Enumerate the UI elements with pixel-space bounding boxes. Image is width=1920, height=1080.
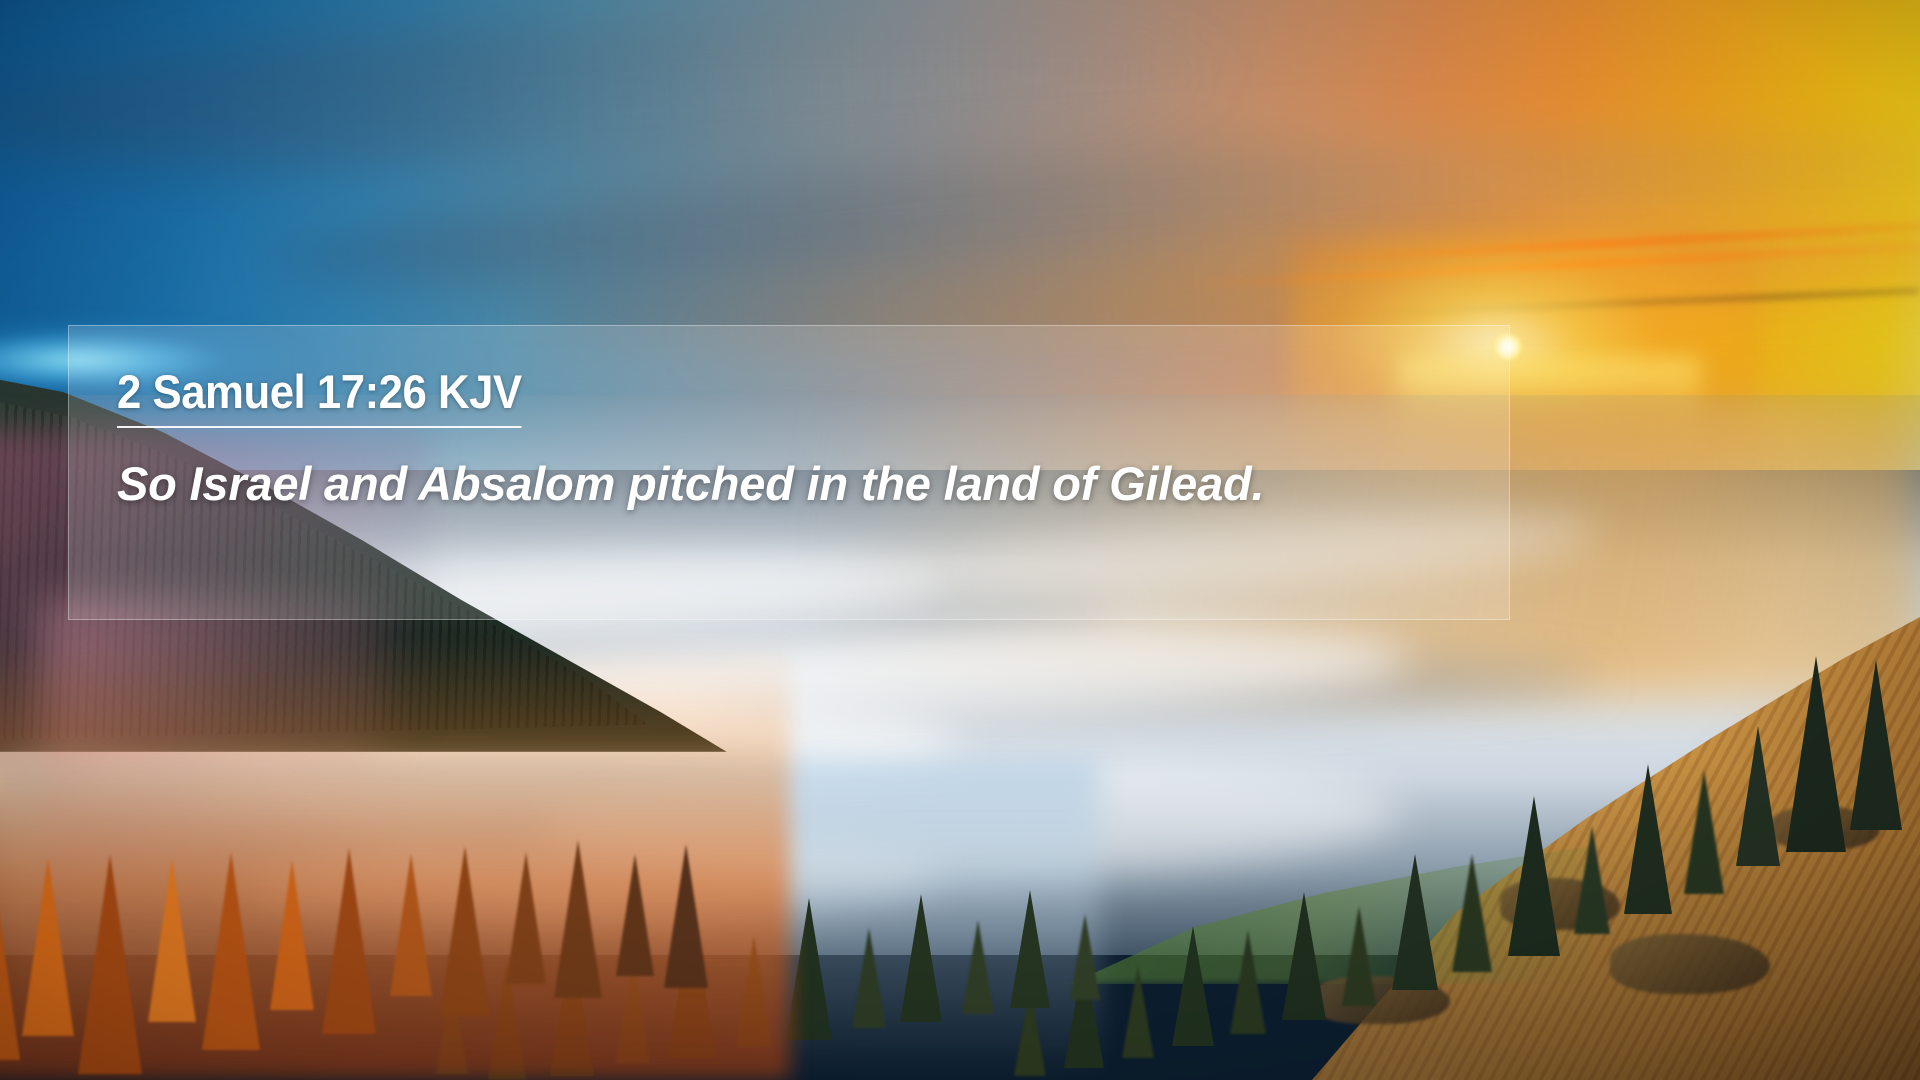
wallpaper-canvas: 2 Samuel 17:26 KJV So Israel and Absalom… [0,0,1920,1080]
verse-reference-heading: 2 Samuel 17:26 KJV [117,368,522,428]
verse-text: So Israel and Absalom pitched in the lan… [117,450,1375,519]
autumn-forest-left [0,640,790,1080]
verse-overlay-panel: 2 Samuel 17:26 KJV So Israel and Absalom… [68,325,1510,620]
